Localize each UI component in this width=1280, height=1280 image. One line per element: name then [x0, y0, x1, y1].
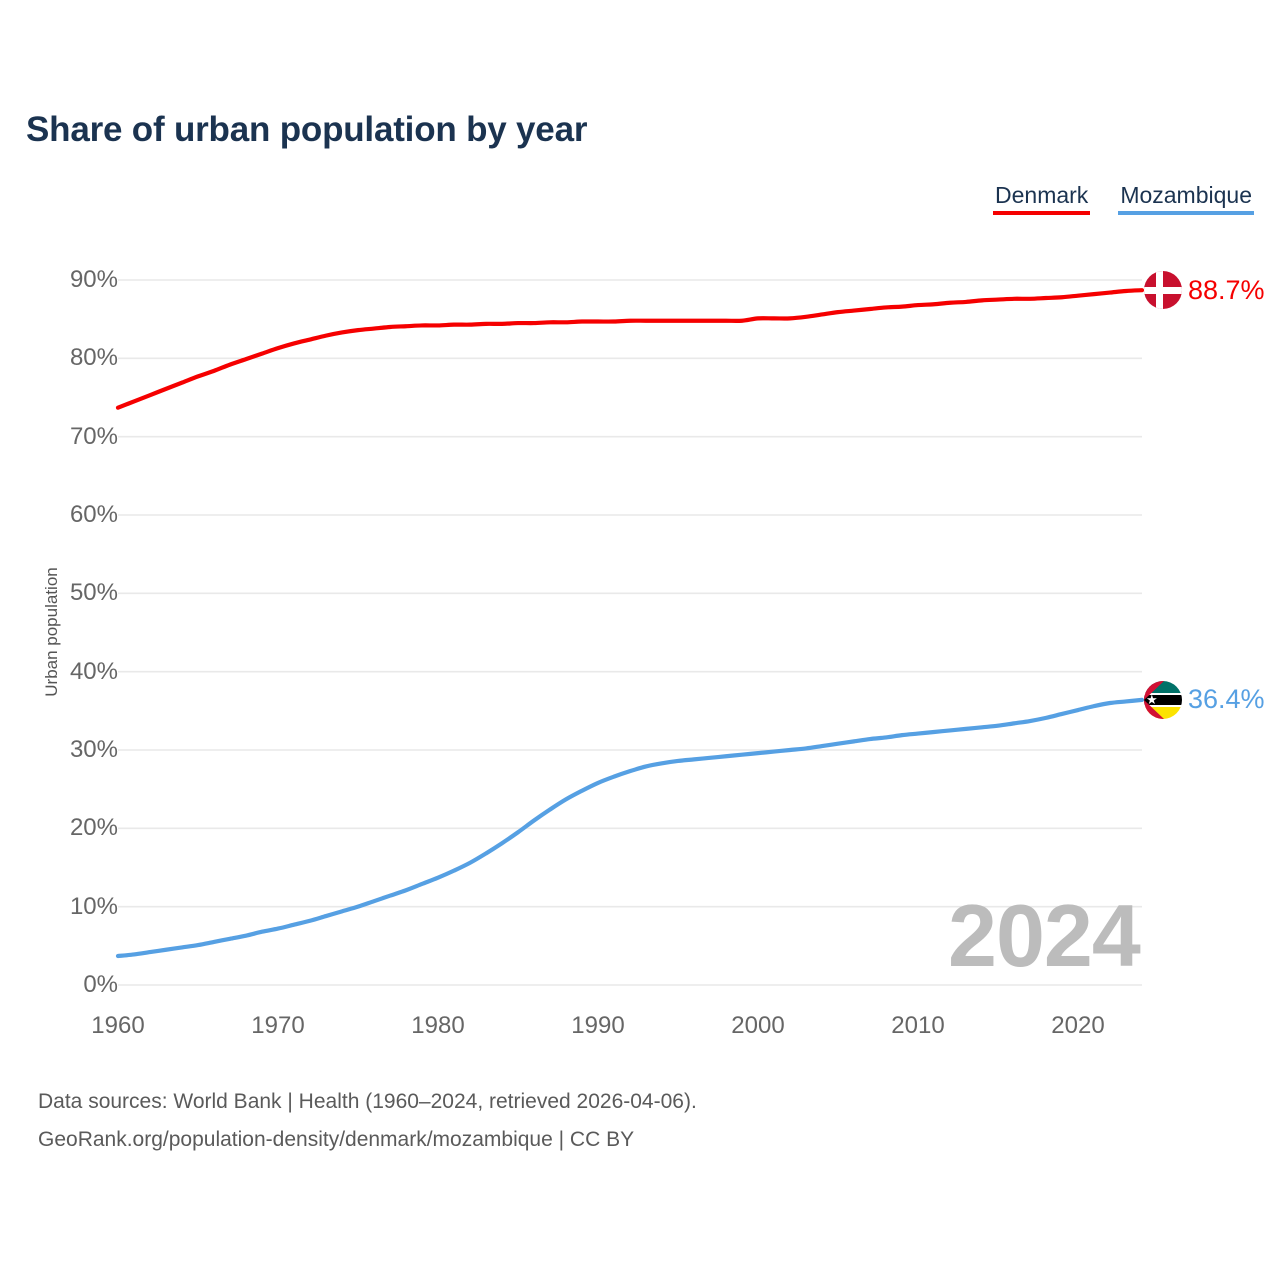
y-tick-label: 70%	[40, 423, 118, 451]
y-tick-label: 0%	[40, 971, 118, 999]
mozambique-endpoint-value: 36.4%	[1188, 684, 1265, 715]
y-tick-label: 80%	[40, 344, 118, 372]
footer-attribution: GeoRank.org/population-density/denmark/m…	[38, 1128, 634, 1152]
x-tick-2010: 2010	[891, 1012, 944, 1040]
chart-page: Share of urban population by year Denmar…	[0, 0, 1280, 1280]
mozambique-endpoint: ★ 36.4%	[1144, 681, 1265, 719]
y-tick-label: 20%	[40, 814, 118, 842]
series-line-denmark	[118, 290, 1142, 408]
y-tick-label: 50%	[40, 579, 118, 607]
mozambique-flag-icon: ★	[1144, 681, 1182, 719]
chart-series-lines	[118, 290, 1142, 956]
x-tick-2020: 2020	[1051, 1012, 1104, 1040]
y-tick-label: 60%	[40, 501, 118, 529]
y-tick-label: 40%	[40, 658, 118, 686]
x-tick-1980: 1980	[411, 1012, 464, 1040]
y-tick-label: 30%	[40, 736, 118, 764]
x-tick-1970: 1970	[251, 1012, 304, 1040]
legend-label-denmark: Denmark	[993, 182, 1090, 208]
denmark-flag-icon	[1144, 271, 1182, 309]
legend-item-mozambique[interactable]: Mozambique	[1118, 182, 1254, 215]
legend-item-denmark[interactable]: Denmark	[993, 182, 1090, 215]
denmark-endpoint: 88.7%	[1144, 271, 1265, 309]
year-watermark: 2024	[948, 892, 1140, 980]
denmark-endpoint-value: 88.7%	[1188, 275, 1265, 306]
y-tick-label: 10%	[40, 893, 118, 921]
y-tick-label: 90%	[40, 266, 118, 294]
chart-legend: Denmark Mozambique	[993, 182, 1254, 215]
x-tick-2000: 2000	[731, 1012, 784, 1040]
legend-rule-denmark	[993, 211, 1090, 215]
footer-data-sources: Data sources: World Bank | Health (1960–…	[38, 1090, 697, 1114]
legend-rule-mozambique	[1118, 211, 1254, 215]
page-title: Share of urban population by year	[26, 110, 587, 150]
x-tick-1990: 1990	[571, 1012, 624, 1040]
x-tick-1960: 1960	[91, 1012, 144, 1040]
legend-label-mozambique: Mozambique	[1118, 182, 1254, 208]
chart-gridlines	[118, 280, 1142, 985]
y-axis-label: Urban population	[42, 532, 62, 732]
